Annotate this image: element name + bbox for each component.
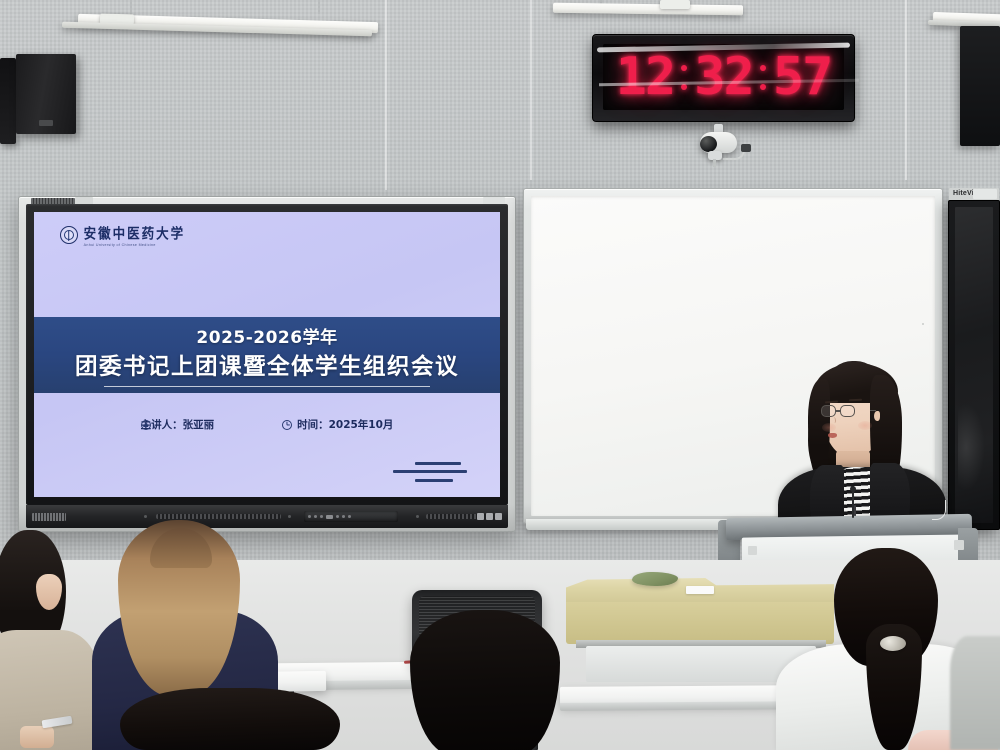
slide-title-underline: [104, 386, 430, 387]
student-front-left: [0, 530, 100, 750]
clock-hours: 12: [616, 51, 675, 103]
light-suspension-wire: [318, 0, 320, 14]
wall-speaker: [16, 54, 76, 134]
slide-date: 时间：2025年10月: [282, 417, 393, 432]
board-bezel: 安徽中医药大学 Anhui University of Chinese Medi…: [26, 204, 508, 505]
student-hair: [120, 688, 340, 750]
presenter-cheek: [822, 423, 836, 432]
interactive-smart-board[interactable]: 安徽中医药大学 Anhui University of Chinese Medi…: [18, 196, 516, 532]
presenter-mouth: [828, 433, 837, 438]
board-indicator-dot: [144, 515, 147, 518]
digital-wall-clock: 12 32 57: [592, 34, 855, 122]
board-speaker-grille: [156, 514, 281, 519]
board-button-panel[interactable]: [304, 511, 398, 522]
presenter-cheek: [858, 421, 872, 430]
whiteboard-mark: [922, 323, 924, 325]
student-hair: [410, 610, 560, 750]
university-seal-icon: [60, 226, 78, 244]
board-brand-logo: [32, 513, 66, 521]
glasses-temple: [870, 410, 876, 411]
speaker-logo: [39, 120, 53, 126]
classroom-scene: 12 32 57 安徽中医药大学: [0, 0, 1000, 750]
clock-colon-icon: [678, 65, 690, 90]
desk-paper: [686, 586, 714, 594]
university-name-en: Anhui University of Chinese Medicine: [84, 242, 186, 246]
camera-lens-icon: [700, 136, 717, 152]
wall-panel-seam: [530, 0, 532, 180]
podium-control-tag[interactable]: [748, 546, 757, 555]
slide-meta-row: 主讲人：张亚丽 时间：2025年10月: [34, 417, 500, 432]
presenter-nose: [832, 417, 836, 423]
display-reflection: [958, 403, 985, 491]
presenter-ear: [874, 411, 880, 421]
clock-colon-icon: [757, 65, 769, 90]
slide-header-area: 安徽中医药大学 Anhui University of Chinese Medi…: [34, 212, 500, 317]
board-indicator-dot: [288, 515, 291, 518]
slide-speaker-label: 主讲人：张亚丽: [141, 417, 215, 432]
clock-seconds: 57: [773, 51, 832, 103]
slide-date-label: 时间：2025年10月: [297, 417, 393, 432]
wall-speaker-side: [0, 58, 16, 144]
student-dark-hair: [120, 688, 340, 750]
slide-title: 团委书记上团课暨全体学生组织会议: [75, 349, 459, 381]
foreground-person-blur: [950, 636, 1000, 750]
podium-microphone-head: [850, 486, 856, 492]
slide-speaker: 主讲人：张亚丽: [141, 417, 215, 432]
desk-object-green: [632, 572, 678, 586]
board-screen[interactable]: 安徽中医药大学 Anhui University of Chinese Medi…: [34, 212, 500, 497]
glasses-lens-right: [840, 405, 855, 417]
student-hair-tie: [880, 636, 906, 651]
board-status-icons: [477, 512, 502, 521]
camera-stem: [713, 159, 716, 167]
student-hand: [20, 726, 54, 748]
university-logo: 安徽中医药大学 Anhui University of Chinese Medi…: [60, 223, 186, 247]
glasses-lens-left: [821, 405, 836, 417]
slide-title-band: 2025-2026学年 团委书记上团课暨全体学生组织会议: [34, 317, 500, 393]
board-indicator-dot: [416, 515, 419, 518]
wall-panel-seam: [905, 0, 907, 180]
display-screen[interactable]: [955, 207, 993, 523]
university-name-cn: 安徽中医药大学: [84, 221, 186, 242]
student-center: [400, 610, 570, 750]
podium-microphone-stem: [852, 490, 854, 518]
clock-minutes: 32: [694, 51, 753, 103]
wall-panel-seam: [385, 0, 387, 190]
wall-mounted-panel: [960, 26, 1000, 146]
display-corner-cap: [973, 189, 997, 199]
person-icon: [141, 420, 151, 430]
presenter-glasses: [821, 405, 855, 417]
clock-display: 12 32 57: [603, 44, 844, 110]
ceiling-light-cap: [660, 0, 690, 9]
camera-junction-box: [741, 144, 751, 152]
clock-icon: [282, 420, 292, 430]
presentation-slide: 安徽中医药大学 Anhui University of Chinese Medi…: [34, 212, 500, 497]
slide-decorative-lines: [391, 460, 467, 486]
university-logo-text: 安徽中医药大学 Anhui University of Chinese Medi…: [84, 223, 186, 247]
slide-academic-year: 2025-2026学年: [196, 323, 337, 348]
